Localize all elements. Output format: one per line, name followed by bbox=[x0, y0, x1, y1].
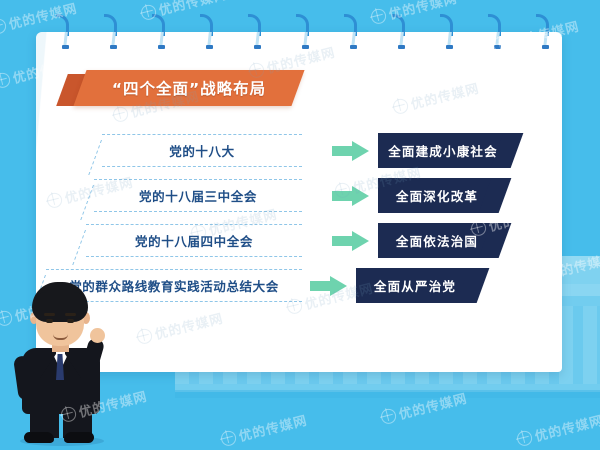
spiral-ring bbox=[104, 14, 117, 48]
spiral-ring bbox=[152, 14, 165, 48]
result-box[interactable]: 全面建成小康社会 bbox=[378, 133, 508, 168]
spiral-ring bbox=[440, 14, 453, 48]
figure-eyebrow-left bbox=[44, 313, 55, 316]
result-box[interactable]: 全面从严治党 bbox=[356, 268, 474, 303]
figure-eyebrow-right bbox=[65, 313, 76, 316]
source-box[interactable]: 党的十八大 bbox=[102, 134, 302, 167]
spiral-binding bbox=[36, 14, 562, 50]
strategy-row: 党的群众路线教育实践活动总结大会 全面从严治党 bbox=[60, 263, 530, 308]
figure-raised-hand bbox=[90, 328, 105, 343]
strategy-row: 党的十八大 全面建成小康社会 bbox=[60, 128, 530, 173]
arrow-right-icon bbox=[332, 231, 372, 251]
figure-shoe-left bbox=[24, 432, 54, 443]
result-box[interactable]: 全面深化改革 bbox=[378, 178, 496, 213]
arrow-right-icon bbox=[310, 276, 350, 296]
source-label: 党的十八届四中全会 bbox=[135, 231, 253, 250]
spiral-ring bbox=[488, 14, 501, 48]
arrow-right-icon bbox=[332, 186, 372, 206]
spiral-ring bbox=[536, 14, 549, 48]
building-shadow bbox=[175, 390, 600, 398]
source-box[interactable]: 党的十八届四中全会 bbox=[86, 224, 302, 257]
figure-fringe bbox=[34, 292, 86, 308]
figure-leg-gap bbox=[59, 412, 63, 438]
strategy-row: 党的十八届三中全会 全面深化改革 bbox=[60, 173, 530, 218]
source-label: 党的十八届三中全会 bbox=[139, 186, 257, 205]
figure-eye-left bbox=[46, 319, 53, 323]
arrow-right-icon bbox=[332, 141, 372, 161]
source-label: 党的十八大 bbox=[169, 141, 235, 160]
spiral-ring bbox=[344, 14, 357, 48]
strategy-row: 党的十八届四中全会 全面依法治国 bbox=[60, 218, 530, 263]
result-label: 全面深化改革 bbox=[378, 178, 496, 213]
spiral-ring bbox=[248, 14, 261, 48]
result-box[interactable]: 全面依法治国 bbox=[378, 223, 496, 258]
source-box-slant-edge bbox=[88, 140, 103, 175]
figure-eye-right bbox=[67, 319, 74, 323]
spiral-ring bbox=[200, 14, 213, 48]
result-label: 全面从严治党 bbox=[356, 268, 474, 303]
figure-shoe-right bbox=[64, 432, 94, 443]
spiral-ring bbox=[392, 14, 405, 48]
page-title: “四个全面”战略布局 bbox=[80, 70, 298, 106]
strategy-rows: 党的十八大 全面建成小康社会 党的十八届三中全会 全面深化改革 bbox=[60, 128, 530, 308]
poster-canvas: “四个全面”战略布局 党的十八大 全面建成小康社会 党的十八届三中全会 bbox=[0, 0, 600, 450]
source-box[interactable]: 党的十八届三中全会 bbox=[94, 179, 302, 212]
result-label: 全面依法治国 bbox=[378, 223, 496, 258]
result-label: 全面建成小康社会 bbox=[378, 133, 508, 168]
source-box-slant-edge bbox=[72, 230, 87, 265]
spiral-ring bbox=[296, 14, 309, 48]
cartoon-leader-figure bbox=[6, 278, 116, 446]
spiral-ring bbox=[56, 14, 69, 48]
source-box-slant-edge bbox=[80, 185, 95, 220]
